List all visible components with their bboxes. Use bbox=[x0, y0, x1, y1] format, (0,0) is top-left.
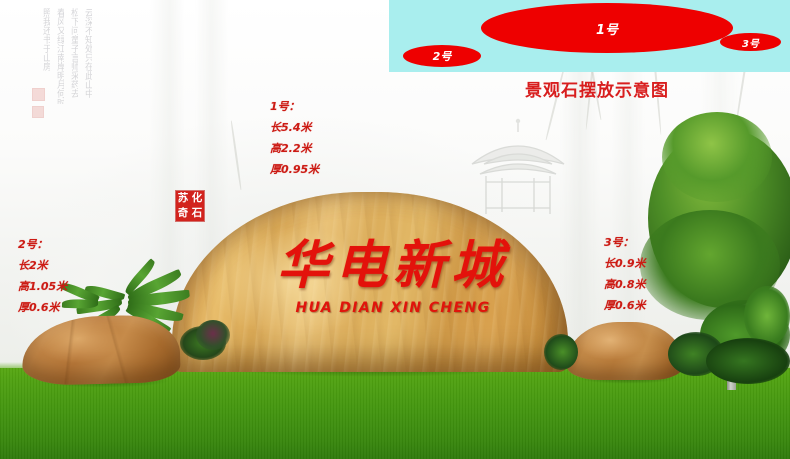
palm-leaf bbox=[62, 299, 98, 309]
tree-canopy bbox=[662, 112, 772, 202]
monument-inscription-pinyin: HUA DIAN XIN CHENG bbox=[248, 300, 538, 316]
seal-char: 化 bbox=[192, 193, 203, 204]
annotation-length: 长2米 bbox=[18, 255, 67, 276]
monument-inscription: 华电新城 bbox=[248, 240, 538, 292]
annotation-thickness: 厚0.95米 bbox=[270, 159, 319, 180]
calligraphy-seal-icon bbox=[32, 106, 44, 118]
calligraphy-seal-icon bbox=[32, 88, 45, 101]
annotation-height: 高1.05米 bbox=[18, 276, 67, 297]
annotation-thickness: 厚0.6米 bbox=[18, 297, 67, 318]
pavilion-background-icon bbox=[462, 118, 574, 218]
calligraphy-watermark: 云深不知处只在此山中 松下问童子言师采药去 春风又绿江南岸明月何时 照我还书于山… bbox=[8, 4, 94, 126]
scene-root: 云深不知处只在此山中 松下问童子言师采药去 春风又绿江南岸明月何时 照我还书于山… bbox=[0, 0, 790, 459]
diagram-ellipse-stone-1: 1号 bbox=[481, 3, 733, 53]
annotation-height: 高0.8米 bbox=[604, 274, 646, 295]
calligraphy-column: 松下问童子言师采药去 bbox=[67, 8, 78, 112]
annotation-stone-3: 3号： 长0.9米 高0.8米 厚0.6米 bbox=[604, 232, 646, 316]
annotation-thickness: 厚0.6米 bbox=[604, 295, 646, 316]
annotation-stone-2: 2号： 长2米 高1.05米 厚0.6米 bbox=[18, 234, 67, 318]
calligraphy-column: 照我还书于山房 bbox=[39, 8, 50, 80]
diagram-ellipse-stone-3: 3号 bbox=[720, 33, 781, 51]
annotation-height: 高2.2米 bbox=[270, 138, 319, 159]
annotation-heading: 1号： bbox=[270, 96, 319, 117]
calligraphy-column: 春风又绿江南岸明月何时 bbox=[53, 8, 64, 104]
calligraphy-column: 云深不知处只在此山中 bbox=[81, 8, 92, 120]
seal-char: 苏 bbox=[178, 193, 189, 204]
annotation-heading: 3号： bbox=[604, 232, 646, 253]
seal-char: 石 bbox=[192, 208, 203, 219]
annotation-heading: 2号： bbox=[18, 234, 67, 255]
seal-char: 奇 bbox=[178, 208, 189, 219]
shrub bbox=[744, 286, 790, 346]
annotation-length: 长0.9米 bbox=[604, 253, 646, 274]
dark-foliage-plant bbox=[196, 320, 230, 350]
foliage-plant bbox=[544, 334, 578, 370]
diagram-ellipse-stone-2: 2号 bbox=[403, 45, 481, 67]
annotation-stone-1: 1号： 长5.4米 高2.2米 厚0.95米 bbox=[270, 96, 319, 180]
artist-seal-stamp: 苏 化 奇 石 bbox=[176, 191, 204, 221]
diagram-title: 景观石摆放示意图 bbox=[525, 76, 669, 101]
annotation-length: 长5.4米 bbox=[270, 117, 319, 138]
foliage-plant bbox=[706, 338, 790, 384]
